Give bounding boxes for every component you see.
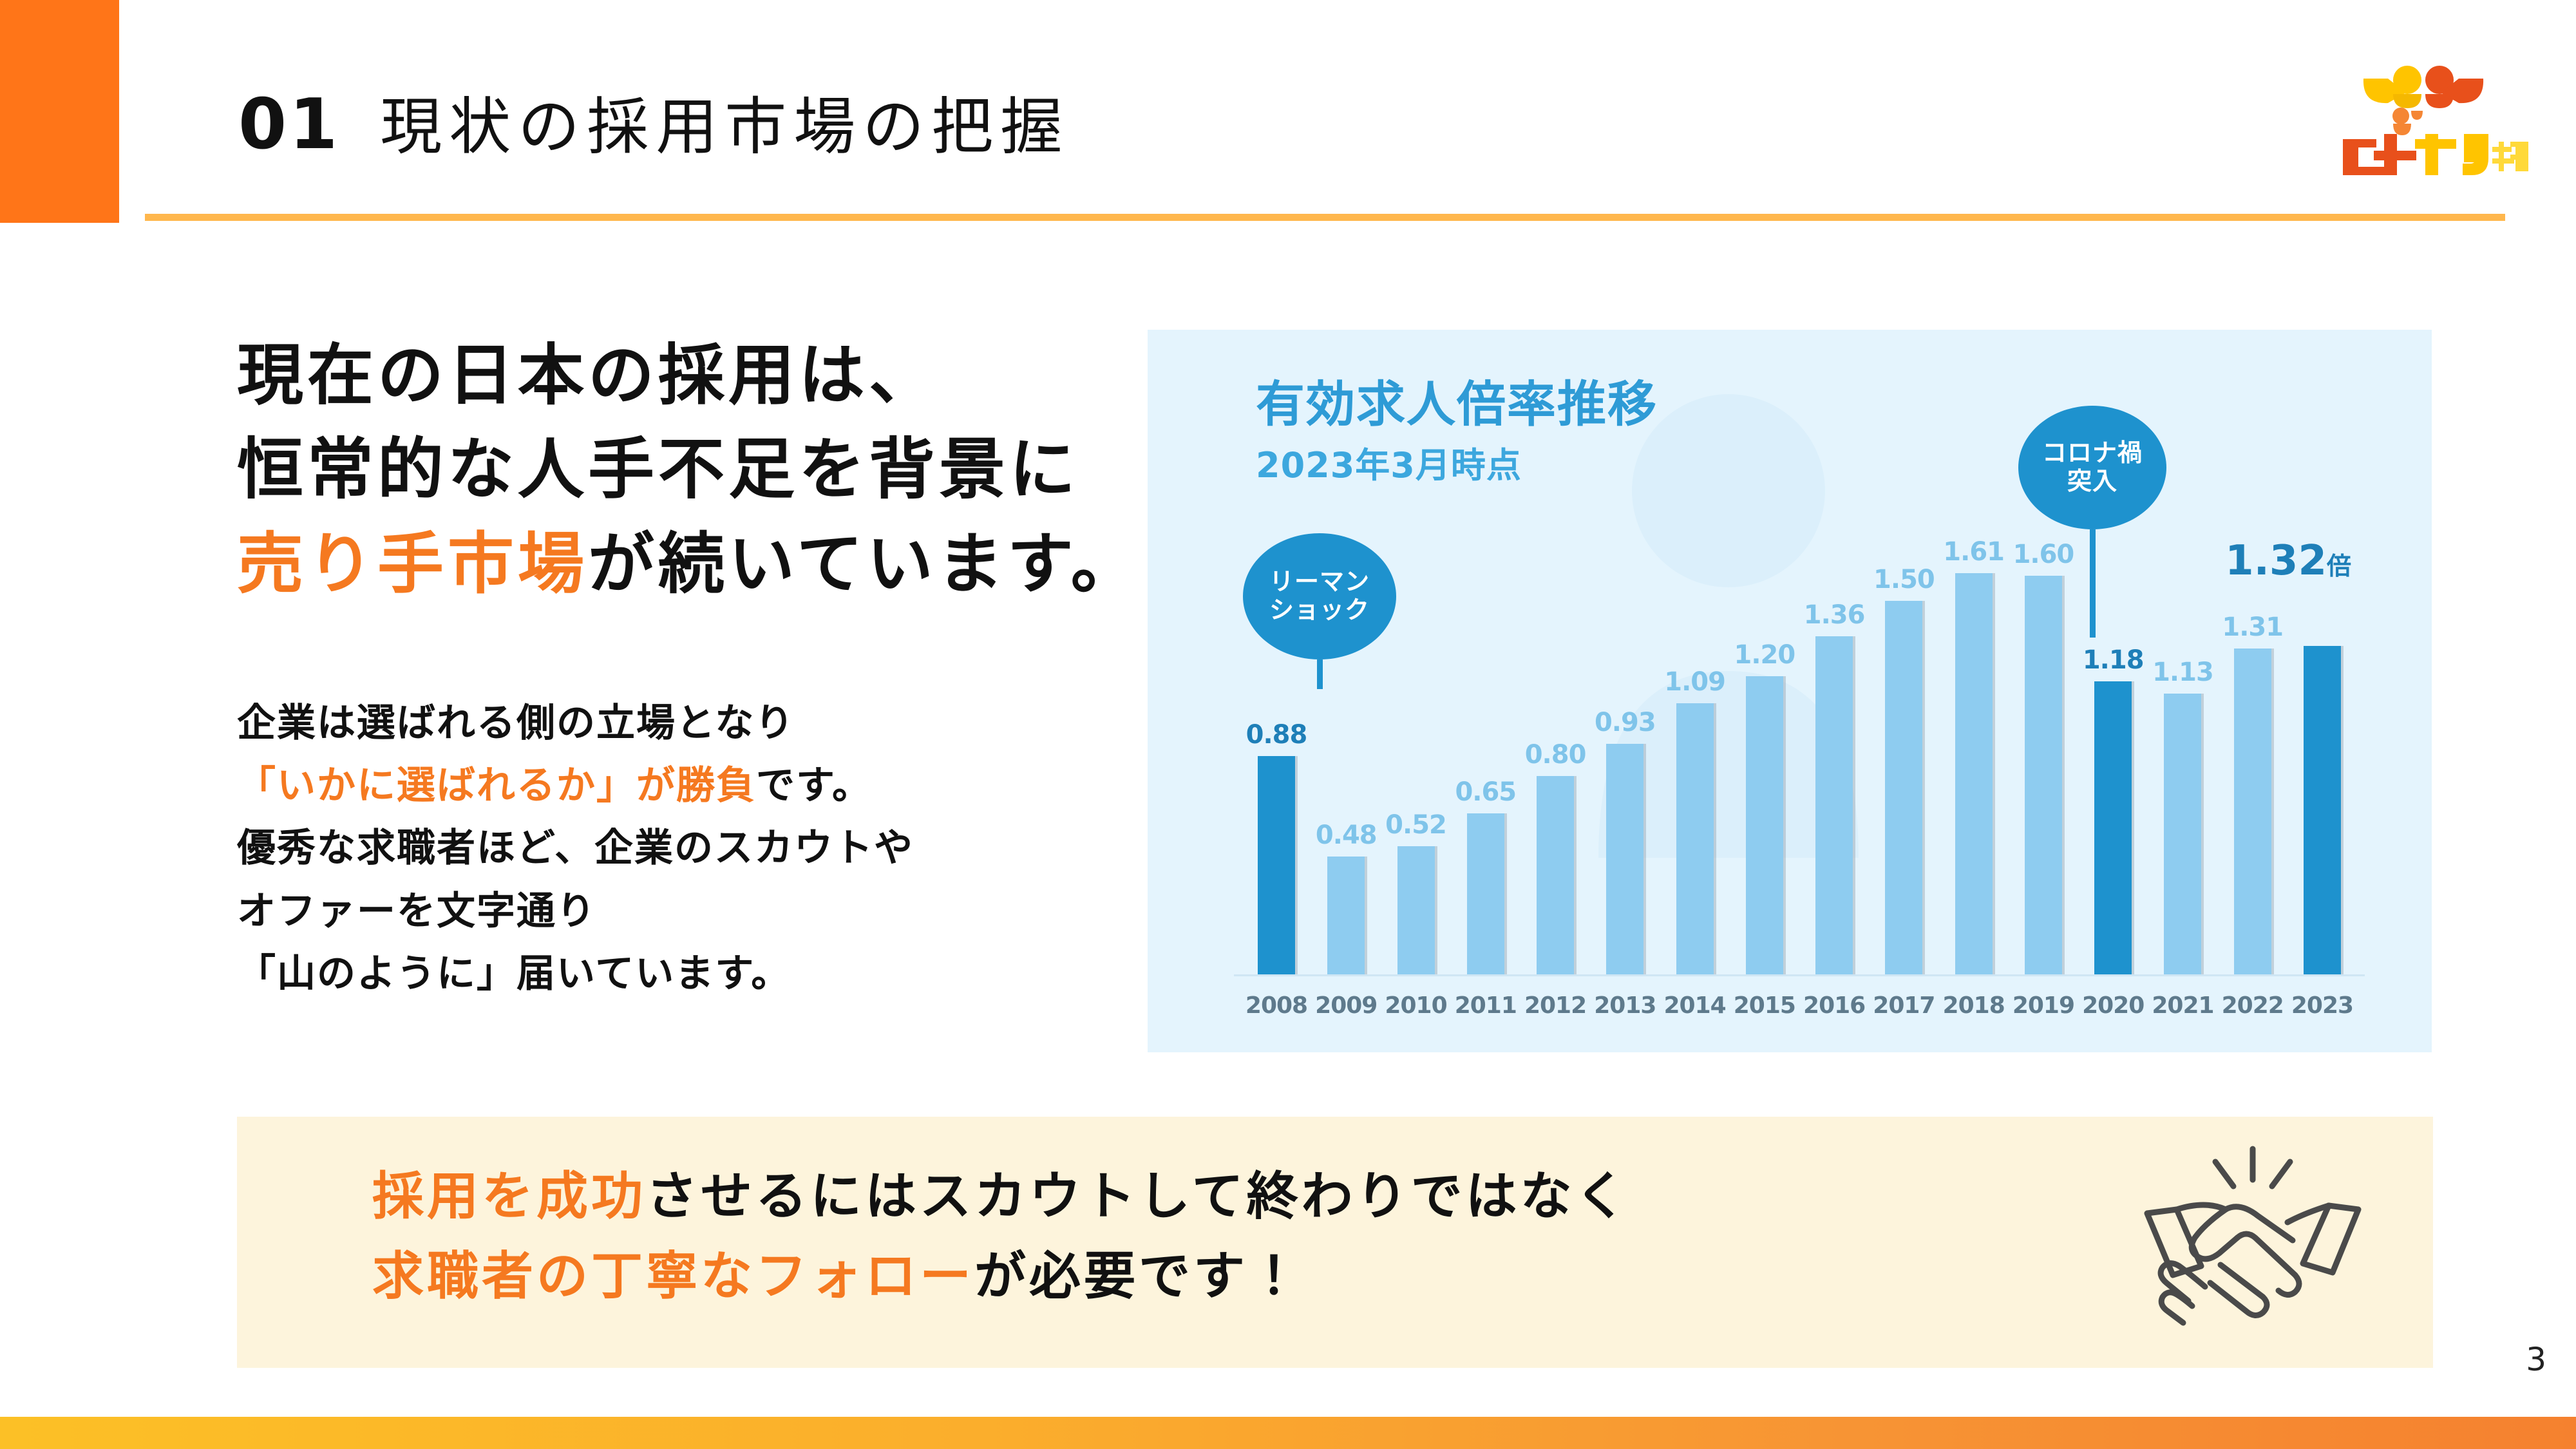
x-label-2011: 2011 — [1452, 992, 1519, 1019]
bar-value-label-2021: 1.13 — [2152, 658, 2213, 687]
bar-value-label-2009: 0.48 — [1316, 820, 1377, 850]
banner-line-1: 採用を成功させるにはスカウトして終わりではなく — [372, 1157, 1630, 1236]
bar-series: 0.880.480.520.650.800.931.091.201.361.50… — [1243, 538, 2356, 976]
body-line-3: 優秀な求職者ほど、企業のスカウトや — [237, 817, 1139, 880]
orange-accent-block — [0, 0, 119, 223]
banner-highlight-success: 採用を成功 — [372, 1166, 646, 1226]
lead-line-3-tail: が続いています。 — [588, 526, 1141, 603]
bar-rect-2018 — [1955, 573, 1993, 976]
bar-2020: 1.18 — [2079, 538, 2146, 976]
bar-value-label-2014: 1.09 — [1664, 667, 1725, 697]
bar-2008: 0.88 — [1243, 538, 1310, 976]
x-label-2009: 2009 — [1312, 992, 1379, 1019]
bar-rect-2020 — [2094, 681, 2132, 977]
bar-2023: 1.32 — [2289, 538, 2356, 976]
bar-rect-2019 — [2025, 576, 2062, 976]
x-axis-line — [1234, 974, 2365, 976]
bar-2013: 0.93 — [1591, 538, 1658, 976]
bar-2022: 1.31 — [2219, 538, 2286, 976]
lead-line-2: 恒常的な人手不足を背景に — [237, 422, 1151, 516]
bar-value-label-2012: 0.80 — [1525, 740, 1586, 770]
body-line-1-text: 企業は選ばれる側の立場となり — [237, 701, 795, 746]
bar-rect-2014 — [1676, 703, 1714, 976]
bar-2010: 0.52 — [1383, 538, 1450, 976]
annotation-corona-line1: コロナ禍 — [2042, 439, 2143, 468]
banner-line-1-tail: させるにはスカウトして終わりではなく — [646, 1166, 1630, 1226]
bar-value-label-2013: 0.93 — [1595, 708, 1656, 737]
banner-text: 採用を成功させるにはスカウトして終わりではなく 求職者の丁寧なフォローが必要です… — [372, 1157, 1630, 1316]
bar-value-label-2008: 0.88 — [1246, 720, 1307, 750]
body-highlight-chosen: 「いかに選ばれるか」が勝負 — [237, 763, 756, 808]
x-label-2012: 2012 — [1522, 992, 1589, 1019]
section-number: 01 — [238, 90, 340, 160]
bar-2009: 0.48 — [1312, 538, 1379, 976]
x-label-2016: 2016 — [1801, 992, 1868, 1019]
bar-2019: 1.60 — [2010, 538, 2077, 976]
bar-rect-2022 — [2234, 649, 2271, 976]
lead-copy: 現在の日本の採用は、 恒常的な人手不足を背景に 売り手市場が続いています。 — [237, 328, 1151, 611]
bar-rect-2017 — [1885, 601, 1922, 976]
page-title: 現状の採用市場の把握 — [380, 96, 1069, 158]
x-label-2018: 2018 — [1940, 992, 2007, 1019]
bar-value-label-2016: 1.36 — [1804, 600, 1865, 630]
bar-2011: 0.65 — [1452, 538, 1519, 976]
chart-subtitle: 2023年3月時点 — [1256, 448, 1522, 483]
bar-rect-2010 — [1397, 846, 1435, 976]
bar-rect-2009 — [1327, 857, 1365, 977]
bar-rect-2011 — [1467, 813, 1504, 976]
body-line-3-text: 優秀な求職者ほど、企業のスカウトや — [237, 826, 914, 871]
lead-line-3: 売り手市場が続いています。 — [237, 517, 1151, 611]
body-line-2-tail: です。 — [756, 763, 872, 808]
company-logo — [2317, 57, 2530, 176]
bar-rect-2008 — [1258, 756, 1295, 976]
banner-line-2: 求職者の丁寧なフォローが必要です！ — [372, 1236, 1630, 1316]
bar-2012: 0.80 — [1522, 538, 1589, 976]
conclusion-banner: 採用を成功させるにはスカウトして終わりではなく 求職者の丁寧なフォローが必要です… — [237, 1117, 2433, 1368]
body-line-2: 「いかに選ばれるか」が勝負です。 — [237, 755, 1139, 817]
banner-highlight-followup: 求職者の丁寧なフォロー — [372, 1246, 974, 1306]
bar-rect-2012 — [1537, 776, 1574, 976]
x-label-2008: 2008 — [1243, 992, 1310, 1019]
body-line-1: 企業は選ばれる側の立場となり — [237, 692, 1139, 755]
lead-line-1-text: 現在の日本の採用は、 — [237, 337, 939, 414]
x-label-2010: 2010 — [1383, 992, 1450, 1019]
lead-highlight-sellers-market: 売り手市場 — [237, 526, 588, 603]
chart-title: 有効求人倍率推移 — [1256, 380, 1658, 429]
page-number: 3 — [2526, 1341, 2546, 1378]
footer-gradient-bar — [0, 1417, 2576, 1449]
bar-rect-2023 — [2304, 646, 2341, 976]
x-label-2022: 2022 — [2219, 992, 2286, 1019]
bar-value-label-2015: 1.20 — [1734, 640, 1795, 670]
lead-line-2-text: 恒常的な人手不足を背景に — [237, 431, 1079, 508]
lead-line-1: 現在の日本の採用は、 — [237, 328, 1151, 422]
body-line-5: 「山のように」届いています。 — [237, 943, 1139, 1005]
x-label-2017: 2017 — [1870, 992, 1937, 1019]
bar-rect-2013 — [1606, 744, 1643, 976]
bar-value-label-2019: 1.60 — [2013, 540, 2074, 569]
body-line-4-text: オファーを文字通り — [237, 889, 596, 934]
bar-value-label-2010: 0.52 — [1385, 810, 1446, 840]
body-line-5-text: 「山のように」届いています。 — [237, 951, 791, 996]
bar-2016: 1.36 — [1801, 538, 1868, 976]
chart-panel: 有効求人倍率推移 2023年3月時点 1.32倍 リーマン ショック コロナ禍 … — [1148, 330, 2432, 1052]
annotation-corona-bubble: コロナ禍 突入 — [2018, 406, 2166, 529]
x-label-2021: 2021 — [2149, 992, 2216, 1019]
x-label-2019: 2019 — [2010, 992, 2077, 1019]
header-divider — [145, 214, 2505, 221]
bar-rect-2021 — [2164, 694, 2201, 976]
x-label-2020: 2020 — [2079, 992, 2146, 1019]
annotation-corona-line2: 突入 — [2067, 468, 2117, 496]
bar-2018: 1.61 — [1940, 538, 2007, 976]
bar-2015: 1.20 — [1731, 538, 1798, 976]
header-row: 01 現状の採用市場の把握 — [238, 90, 2505, 219]
bar-rect-2015 — [1746, 676, 1783, 976]
x-label-2023: 2023 — [2289, 992, 2356, 1019]
bar-value-label-2011: 0.65 — [1455, 777, 1516, 807]
banner-line-2-tail: が必要です！ — [974, 1246, 1303, 1306]
bar-2014: 1.09 — [1662, 538, 1728, 976]
plot-area: 0.880.480.520.650.800.931.091.201.361.50… — [1243, 538, 2356, 976]
bar-2021: 1.13 — [2149, 538, 2216, 976]
bar-rect-2016 — [1815, 636, 1853, 976]
handshake-icon — [2143, 1137, 2362, 1331]
x-label-2014: 2014 — [1662, 992, 1728, 1019]
bar-value-label-2020: 1.18 — [2083, 645, 2144, 675]
bar-value-label-2018: 1.61 — [1943, 537, 2004, 567]
bar-value-label-2017: 1.50 — [1873, 565, 1935, 594]
x-label-2013: 2013 — [1591, 992, 1658, 1019]
x-label-2015: 2015 — [1731, 992, 1798, 1019]
bar-value-label-2022: 1.31 — [2222, 612, 2283, 642]
bar-2017: 1.50 — [1870, 538, 1937, 976]
body-copy: 企業は選ばれる側の立場となり 「いかに選ばれるか」が勝負です。 優秀な求職者ほど… — [237, 692, 1139, 1005]
body-line-4: オファーを文字通り — [237, 880, 1139, 943]
x-axis-labels: 2008200920102011201220132014201520162017… — [1243, 992, 2356, 1019]
